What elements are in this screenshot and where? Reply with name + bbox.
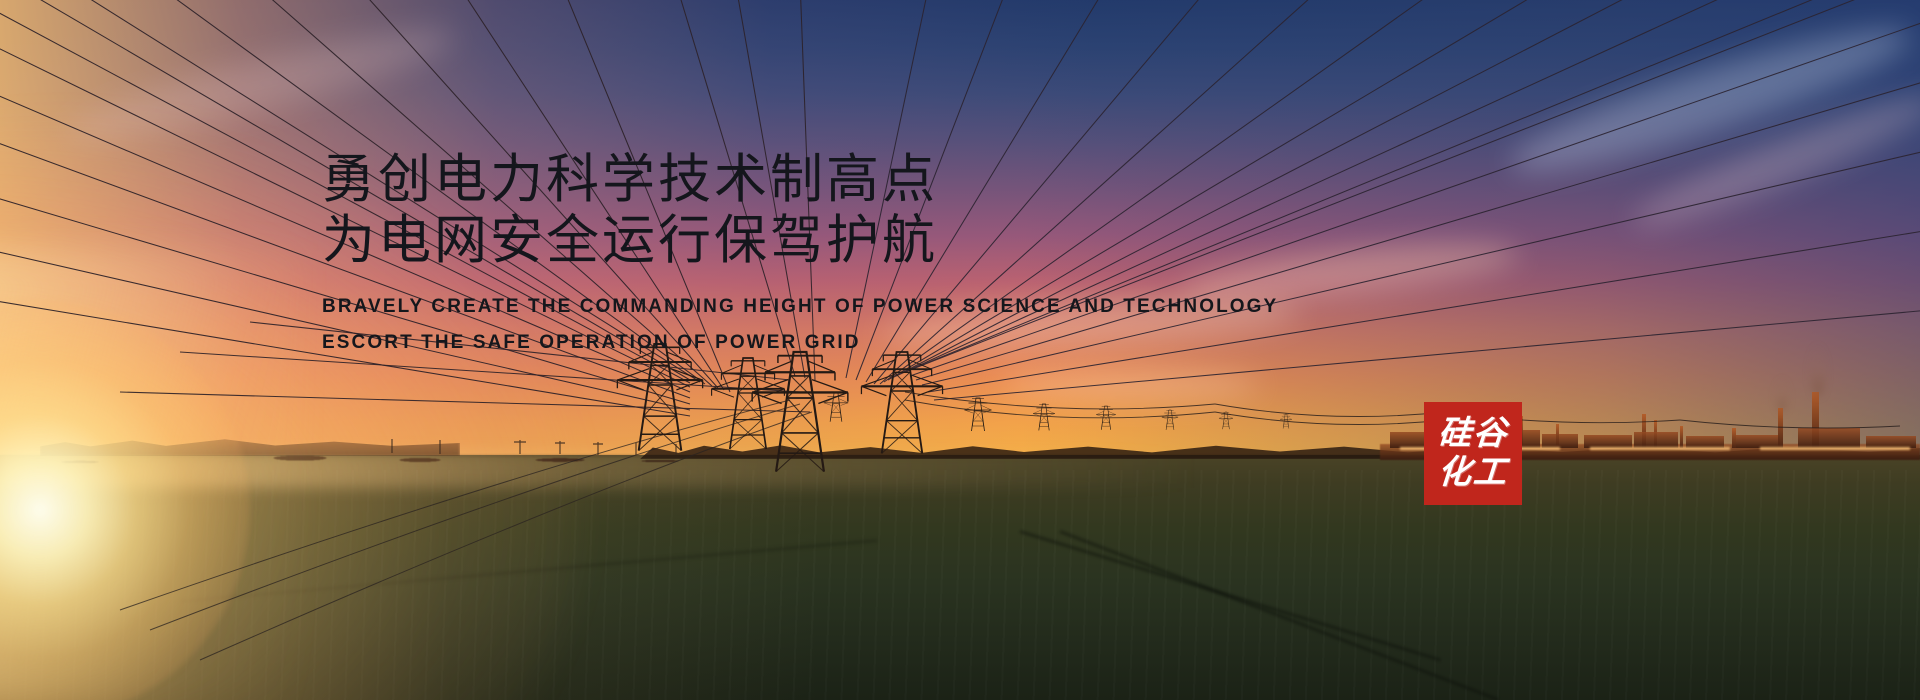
refinery-building — [1542, 434, 1578, 448]
refinery-powerhouse — [1798, 428, 1860, 448]
subheadline-line-2: ESCORT THE SAFE OPERATION OF POWER GRID — [322, 327, 1322, 359]
banner-copy-block: 勇创电力科学技术制高点 为电网安全运行保驾护航 BRAVELY CREATE T… — [322, 150, 1322, 359]
refinery-light-glow — [1760, 447, 1910, 450]
headline-line-2: 为电网安全运行保驾护航 — [322, 211, 1322, 272]
cloud-wisp — [1000, 370, 1260, 400]
headline-line-1: 勇创电力科学技术制高点 — [322, 151, 938, 209]
refinery-stack — [1778, 408, 1783, 448]
refinery-light-glow — [1590, 447, 1730, 450]
refinery-stack — [1680, 426, 1683, 448]
subheadline: BRAVELY CREATE THE COMMANDING HEIGHT OF … — [322, 291, 1322, 359]
company-logo-seal[interactable]: 硅谷 化工 — [1424, 402, 1522, 505]
refinery-stack — [1556, 424, 1559, 448]
subheadline-line-1: BRAVELY CREATE THE COMMANDING HEIGHT OF … — [322, 296, 1278, 317]
refinery-building — [1634, 432, 1678, 448]
hero-banner: 勇创电力科学技术制高点 为电网安全运行保驾护航 BRAVELY CREATE T… — [0, 0, 1920, 700]
chimney-smoke — [1776, 376, 1788, 412]
logo-text-line-2: 化工 — [1437, 454, 1510, 493]
headline: 勇创电力科学技术制高点 为电网安全运行保驾护航 — [322, 150, 1322, 272]
logo-text-line-1: 硅谷 — [1437, 415, 1510, 454]
chimney-smoke — [1810, 342, 1826, 396]
